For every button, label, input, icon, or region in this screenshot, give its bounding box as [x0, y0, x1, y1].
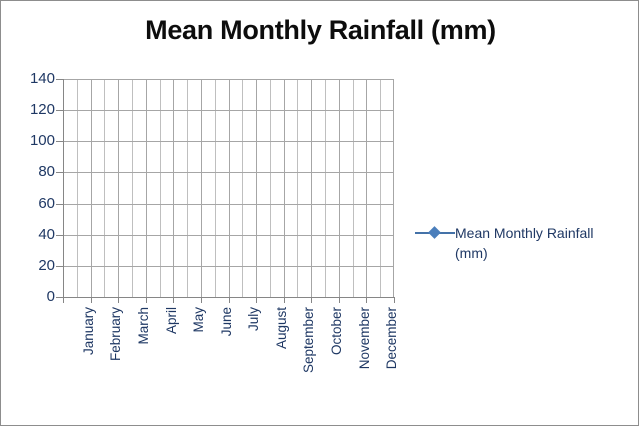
gridline-vertical-major	[256, 79, 257, 297]
x-tick-mark	[256, 297, 257, 303]
x-tick-mark	[118, 297, 119, 303]
gridline-vertical-major	[91, 79, 92, 297]
gridline-vertical-minor	[270, 79, 271, 297]
x-tick-label: May	[192, 307, 206, 333]
gridline-vertical-major	[146, 79, 147, 297]
gridline-vertical-major	[393, 79, 394, 297]
y-tick-label: 0	[13, 289, 55, 304]
gridline-vertical-major	[339, 79, 340, 297]
x-tick-mark	[229, 297, 230, 303]
y-tick-mark	[56, 235, 63, 236]
y-tick-label: 100	[13, 133, 55, 148]
gridline-vertical-minor	[215, 79, 216, 297]
y-tick-label: 20	[13, 258, 55, 273]
gridline-vertical-minor	[132, 79, 133, 297]
gridline-vertical-major	[366, 79, 367, 297]
y-tick-mark	[56, 266, 63, 267]
y-axis-line	[63, 79, 64, 298]
gridline-horizontal	[63, 266, 394, 267]
x-tick-mark	[173, 297, 174, 303]
gridline-vertical-minor	[353, 79, 354, 297]
x-tick-mark	[394, 297, 395, 303]
gridline-vertical-minor	[104, 79, 105, 297]
legend-label-line1: Mean Monthly Rainfall	[455, 225, 594, 241]
x-tick-label: February	[109, 307, 123, 361]
gridline-horizontal	[63, 204, 394, 205]
chart-title: Mean Monthly Rainfall (mm)	[1, 15, 639, 46]
gridline-horizontal	[63, 110, 394, 111]
x-tick-label: April	[165, 307, 179, 334]
x-tick-label: March	[137, 307, 151, 345]
chart-container: Mean Monthly Rainfall (mm) 0204060801001…	[0, 0, 639, 426]
chart-legend: Mean Monthly Rainfall (mm)	[415, 223, 633, 264]
y-tick-label: 80	[13, 164, 55, 179]
y-tick-mark	[56, 297, 63, 298]
gridline-horizontal	[63, 235, 394, 236]
x-tick-mark	[63, 297, 64, 303]
x-tick-label: August	[275, 307, 289, 349]
y-tick-label: 60	[13, 196, 55, 211]
gridline-vertical-major	[118, 79, 119, 297]
y-tick-label: 40	[13, 227, 55, 242]
y-tick-label: 140	[13, 71, 55, 86]
gridline-vertical-major	[311, 79, 312, 297]
x-tick-label: September	[302, 307, 316, 373]
x-tick-mark	[311, 297, 312, 303]
gridline-vertical-minor	[297, 79, 298, 297]
x-tick-mark	[146, 297, 147, 303]
legend-label: Mean Monthly Rainfall (mm)	[455, 223, 594, 264]
gridline-vertical-minor	[77, 79, 78, 297]
y-tick-mark	[56, 79, 63, 80]
x-tick-label: July	[247, 307, 261, 331]
gridline-horizontal	[63, 141, 394, 142]
x-tick-mark	[284, 297, 285, 303]
y-tick-label: 120	[13, 102, 55, 117]
y-tick-mark	[56, 204, 63, 205]
gridline-vertical-minor	[380, 79, 381, 297]
x-tick-label: June	[220, 307, 234, 336]
y-tick-mark	[56, 110, 63, 111]
x-tick-label: November	[358, 307, 372, 369]
gridline-vertical-minor	[325, 79, 326, 297]
x-tick-mark	[366, 297, 367, 303]
x-tick-label: January	[82, 307, 96, 355]
gridline-vertical-minor	[242, 79, 243, 297]
gridline-vertical-minor	[187, 79, 188, 297]
y-axis-tick-labels: 020406080100120140	[9, 1, 55, 426]
gridline-vertical-major	[173, 79, 174, 297]
plot-area: January: 103February: 118March: 131April…	[63, 79, 394, 297]
x-tick-mark	[91, 297, 92, 303]
x-tick-mark	[201, 297, 202, 303]
y-tick-mark	[56, 172, 63, 173]
x-tick-label: October	[330, 307, 344, 355]
diamond-marker-icon	[428, 226, 441, 239]
gridline-horizontal	[63, 79, 394, 80]
legend-marker-icon	[415, 224, 455, 242]
gridline-vertical-major	[201, 79, 202, 297]
gridline-vertical-minor	[160, 79, 161, 297]
y-tick-mark	[56, 141, 63, 142]
gridline-horizontal	[63, 172, 394, 173]
x-tick-mark	[339, 297, 340, 303]
x-tick-label: December	[385, 307, 399, 369]
gridline-vertical-major	[284, 79, 285, 297]
legend-item: Mean Monthly Rainfall (mm)	[415, 223, 633, 264]
legend-label-line2: (mm)	[455, 245, 488, 261]
gridline-vertical-major	[229, 79, 230, 297]
